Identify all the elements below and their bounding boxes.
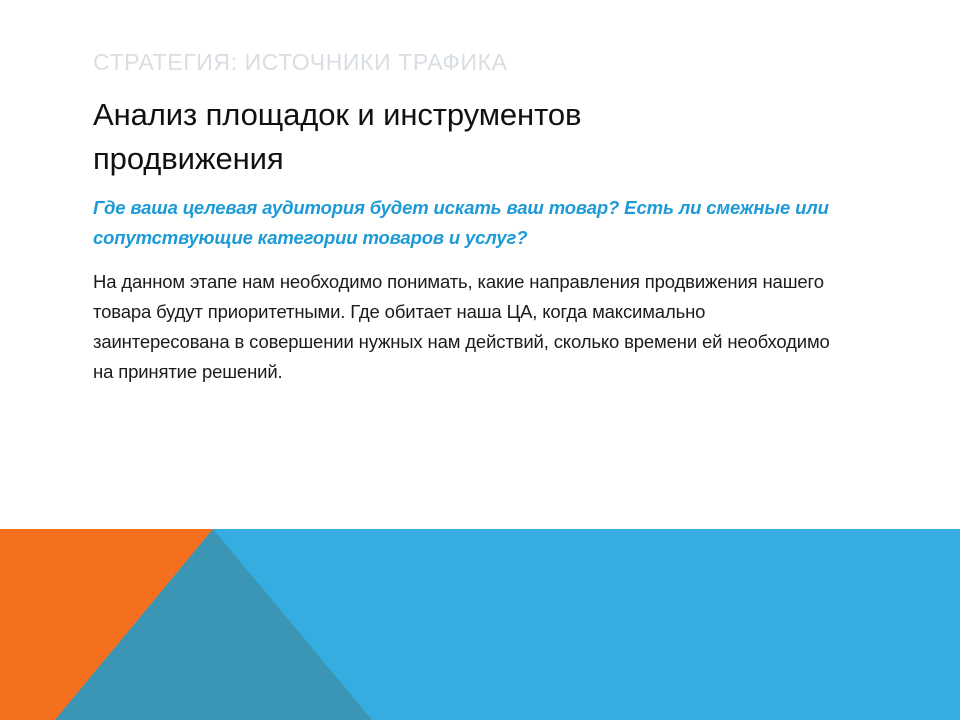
slide-body-paragraph: На данном этапе нам необходимо понимать,…: [93, 267, 845, 387]
page-title: Анализ площадок и инструментов продвижен…: [93, 93, 733, 181]
angled-color-band-graphic: [0, 529, 960, 720]
slide-subtitle-question: Где ваша целевая аудитория будет искать …: [93, 193, 853, 253]
slide-header-eyebrow: СТРАТЕГИЯ: ИСТОЧНИКИ ТРАФИКА: [93, 48, 853, 77]
slide-canvas: СТРАТЕГИЯ: ИСТОЧНИКИ ТРАФИКА Анализ площ…: [0, 0, 960, 720]
slide-content: СТРАТЕГИЯ: ИСТОЧНИКИ ТРАФИКА Анализ площ…: [93, 48, 853, 387]
footer-decoration-band: [0, 529, 960, 720]
